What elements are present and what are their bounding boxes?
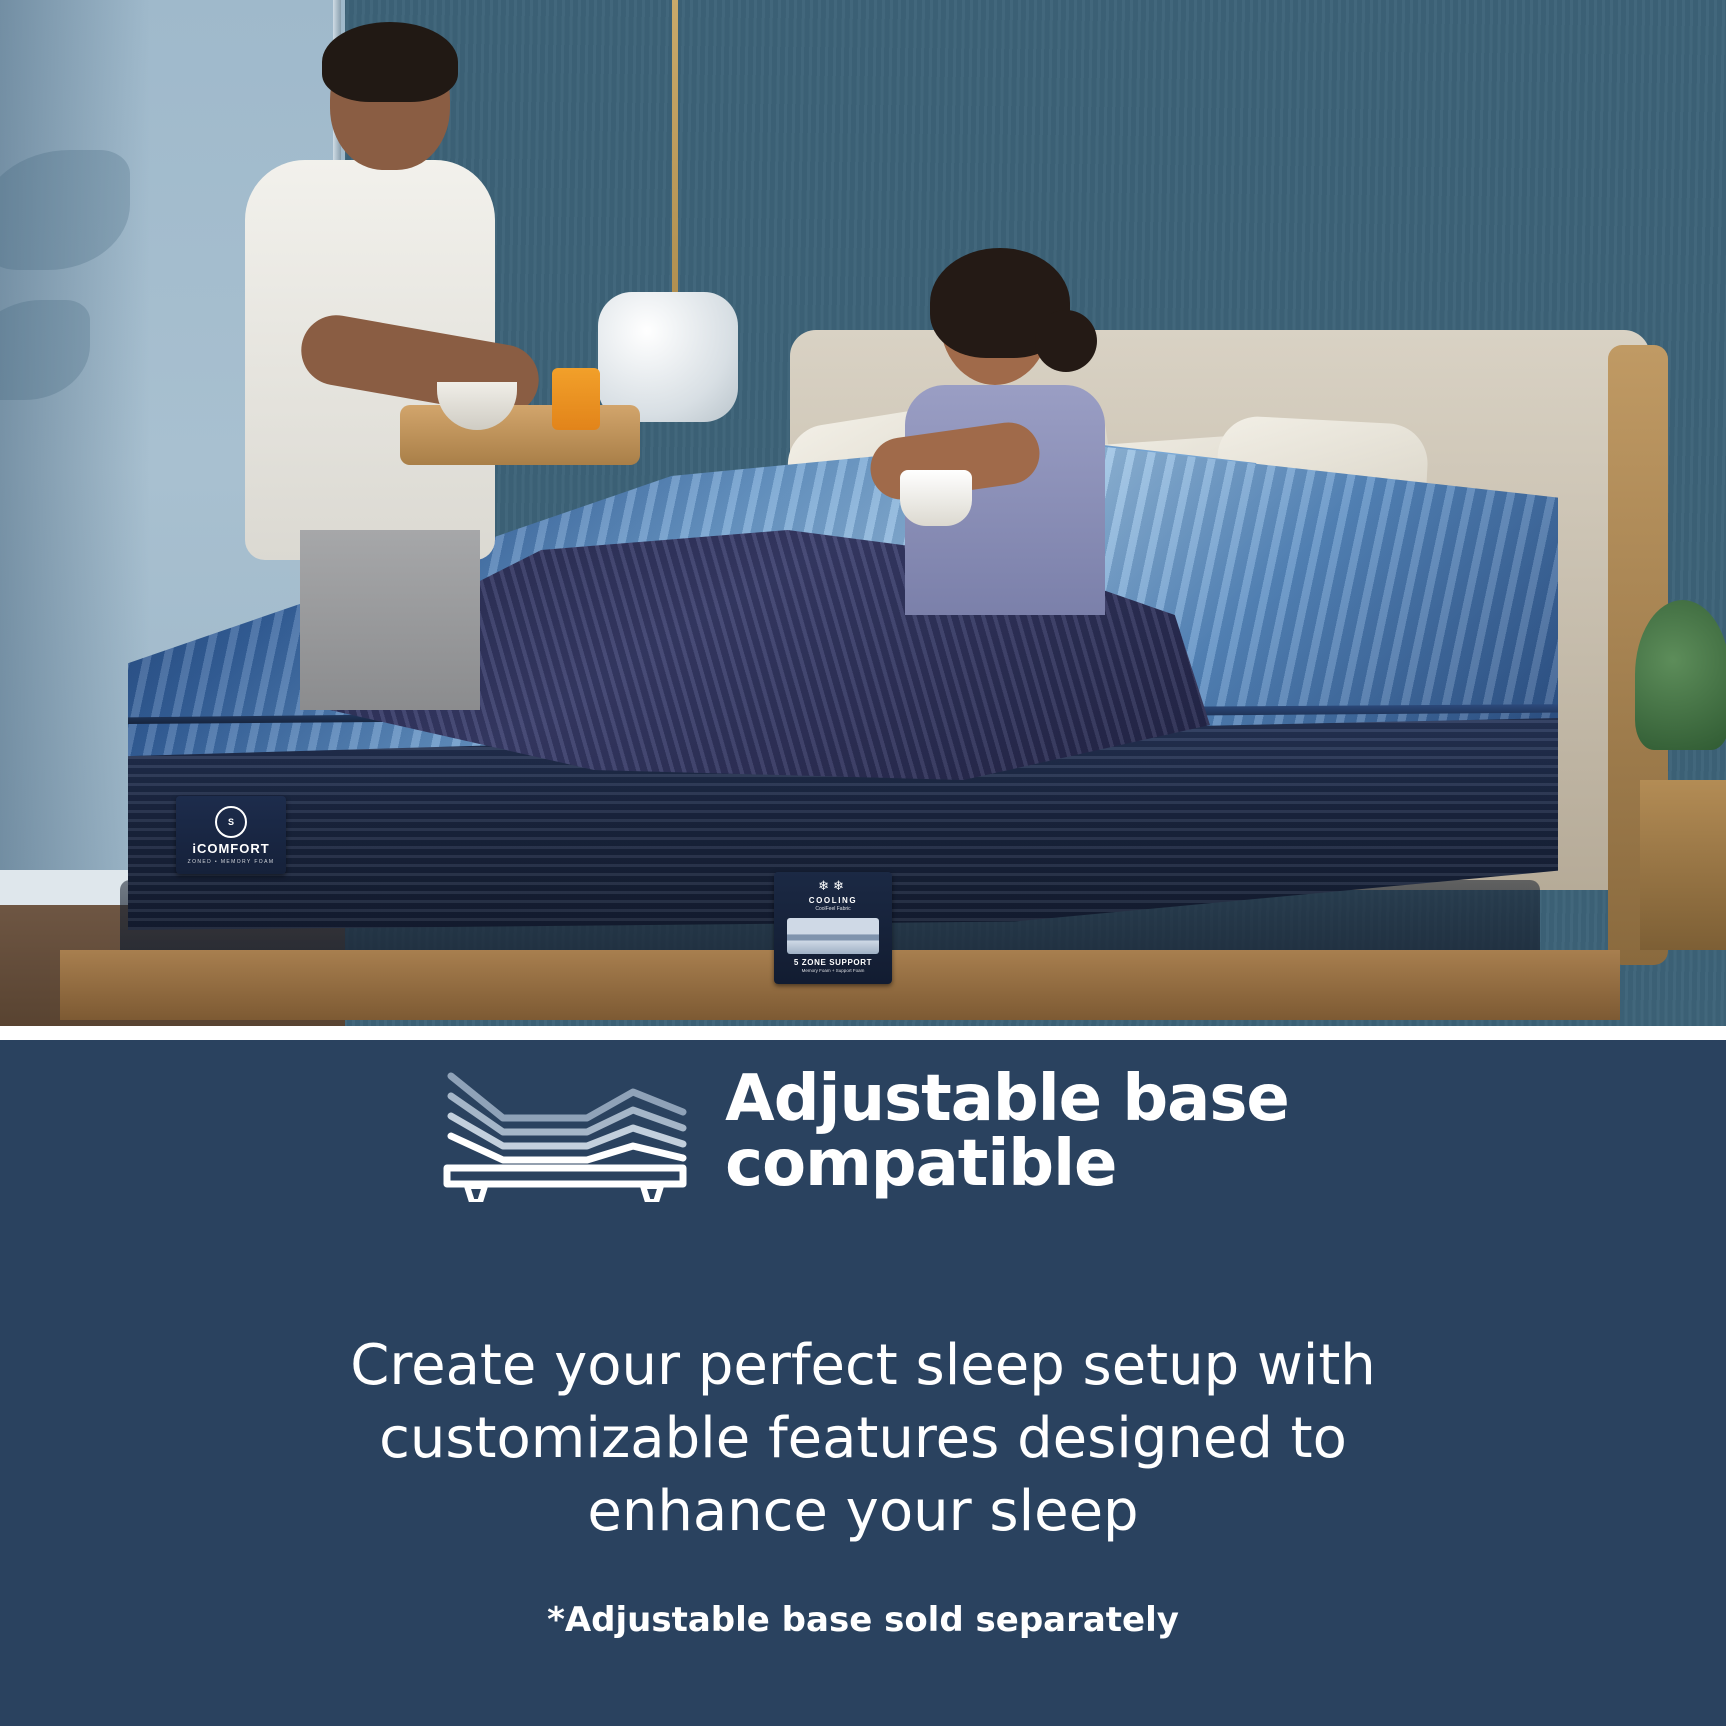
feature-body-copy: Create your perfect sleep setup with cus… <box>213 1330 1513 1548</box>
coffee-mug <box>900 470 972 526</box>
juice-glass <box>552 368 600 430</box>
marketing-banner: S iCOMFORT ZONED • MEMORY FOAM ❄❄ COOLIN… <box>0 0 1726 1726</box>
zone-title: 5 ZONE SUPPORT <box>794 958 872 967</box>
woman-hair-bun <box>1035 310 1097 372</box>
man-hair <box>322 22 458 102</box>
breakfast-tray <box>400 405 640 465</box>
serta-logo-icon: S <box>215 806 247 838</box>
feature-header: Adjustable base compatible <box>0 1062 1726 1202</box>
headline-line-2: compatible <box>725 1132 1289 1197</box>
serta-brand-label: S iCOMFORT ZONED • MEMORY FOAM <box>176 796 286 874</box>
pendant-lamp-cord <box>672 0 678 300</box>
body-line-2: customizable features designed to <box>213 1403 1513 1476</box>
nightstand <box>1640 780 1726 950</box>
zone-cutaway-graphic <box>787 918 879 954</box>
lifestyle-photo: S iCOMFORT ZONED • MEMORY FOAM ❄❄ COOLIN… <box>0 0 1726 1040</box>
body-line-1: Create your perfect sleep setup with <box>213 1330 1513 1403</box>
feature-headline: Adjustable base compatible <box>725 1067 1289 1198</box>
zone-subtitle: Memory Foam + Support Foam <box>802 968 865 973</box>
serta-product-name: iCOMFORT <box>192 841 269 856</box>
body-line-3: enhance your sleep <box>213 1476 1513 1549</box>
man-pants <box>300 530 480 710</box>
disclaimer-footnote: *Adjustable base sold separately <box>213 1600 1513 1640</box>
cooling-title: COOLING <box>809 896 858 905</box>
houseplant <box>1635 600 1726 750</box>
adjustable-base-icon <box>437 1062 689 1202</box>
cooling-subtitle: CoolFeel Fabric <box>815 906 850 912</box>
headline-line-1: Adjustable base <box>725 1067 1289 1132</box>
feature-panel: Adjustable base compatible Create your p… <box>0 1040 1726 1726</box>
snowflake-icon: ❄❄ <box>818 879 848 892</box>
cooling-feature-label: ❄❄ COOLING CoolFeel Fabric 5 ZONE SUPPOR… <box>774 872 892 984</box>
section-divider <box>0 1026 1726 1040</box>
pendant-lamp-shade <box>598 292 738 422</box>
serta-tagline: ZONED • MEMORY FOAM <box>188 859 275 865</box>
